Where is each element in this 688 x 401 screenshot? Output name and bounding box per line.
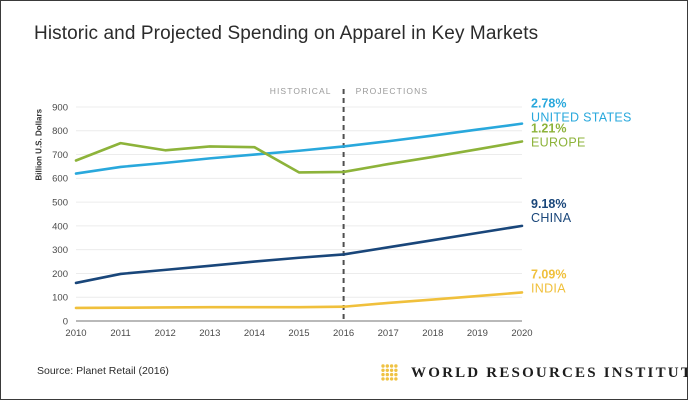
x-tick-label: 2014	[244, 328, 265, 339]
x-tick-label: 2013	[199, 328, 220, 339]
y-tick-label: 0	[63, 316, 68, 327]
gridlines	[76, 107, 522, 321]
historical-label: HISTORICAL	[270, 86, 332, 96]
y-tick-label: 700	[52, 150, 68, 161]
historical-projection-divider: HISTORICALPROJECTIONS	[270, 86, 428, 321]
x-tick-label: 2019	[467, 328, 488, 339]
series-line-india	[76, 292, 522, 307]
series-name-europe: EUROPE	[531, 135, 586, 149]
series-name-china: CHINA	[531, 211, 572, 225]
y-axis-ticks: 0100200300400500600700800900	[52, 102, 68, 327]
y-tick-label: 600	[52, 174, 68, 185]
series-growth-united-states: 2.78%	[531, 97, 566, 111]
series-growth-india: 7.09%	[531, 267, 566, 281]
x-tick-label: 2020	[511, 328, 532, 339]
x-tick-label: 2018	[422, 328, 443, 339]
wri-logo: WORLD RESOURCES INSTITUTE	[379, 362, 688, 384]
x-tick-label: 2017	[378, 328, 399, 339]
data-series-group	[76, 124, 522, 308]
y-tick-label: 500	[52, 198, 68, 209]
wri-logo-text: WORLD RESOURCES INSTITUTE	[411, 365, 688, 382]
series-growth-europe: 1.21%	[531, 121, 566, 135]
y-tick-label: 300	[52, 245, 68, 256]
x-tick-label: 2010	[65, 328, 86, 339]
plot-area: 0100200300400500600700800900 20102011201…	[1, 1, 688, 401]
y-tick-label: 900	[52, 102, 68, 113]
series-name-india: INDIA	[531, 281, 566, 295]
series-line-europe	[76, 141, 522, 172]
chart-figure: Historic and Projected Spending on Appar…	[0, 0, 688, 400]
y-tick-label: 800	[52, 126, 68, 137]
y-tick-label: 200	[52, 269, 68, 280]
y-tick-label: 400	[52, 221, 68, 232]
x-tick-label: 2015	[288, 328, 309, 339]
source-note: Source: Planet Retail (2016)	[37, 365, 169, 377]
line-chart-svg: 0100200300400500600700800900 20102011201…	[1, 1, 688, 401]
x-axis-ticks: 2010201120122013201420152016201720182019…	[65, 328, 532, 339]
x-tick-label: 2012	[155, 328, 176, 339]
x-tick-label: 2011	[110, 328, 130, 339]
y-tick-label: 100	[52, 293, 68, 304]
series-labels-group: 2.78%UNITED STATES1.21%EUROPE9.18%CHINA7…	[531, 97, 632, 296]
projections-label: PROJECTIONS	[356, 86, 429, 96]
series-growth-china: 9.18%	[531, 197, 566, 211]
series-line-china	[76, 226, 522, 283]
x-tick-label: 2016	[333, 328, 354, 339]
wri-dotted-square-icon	[379, 362, 401, 384]
